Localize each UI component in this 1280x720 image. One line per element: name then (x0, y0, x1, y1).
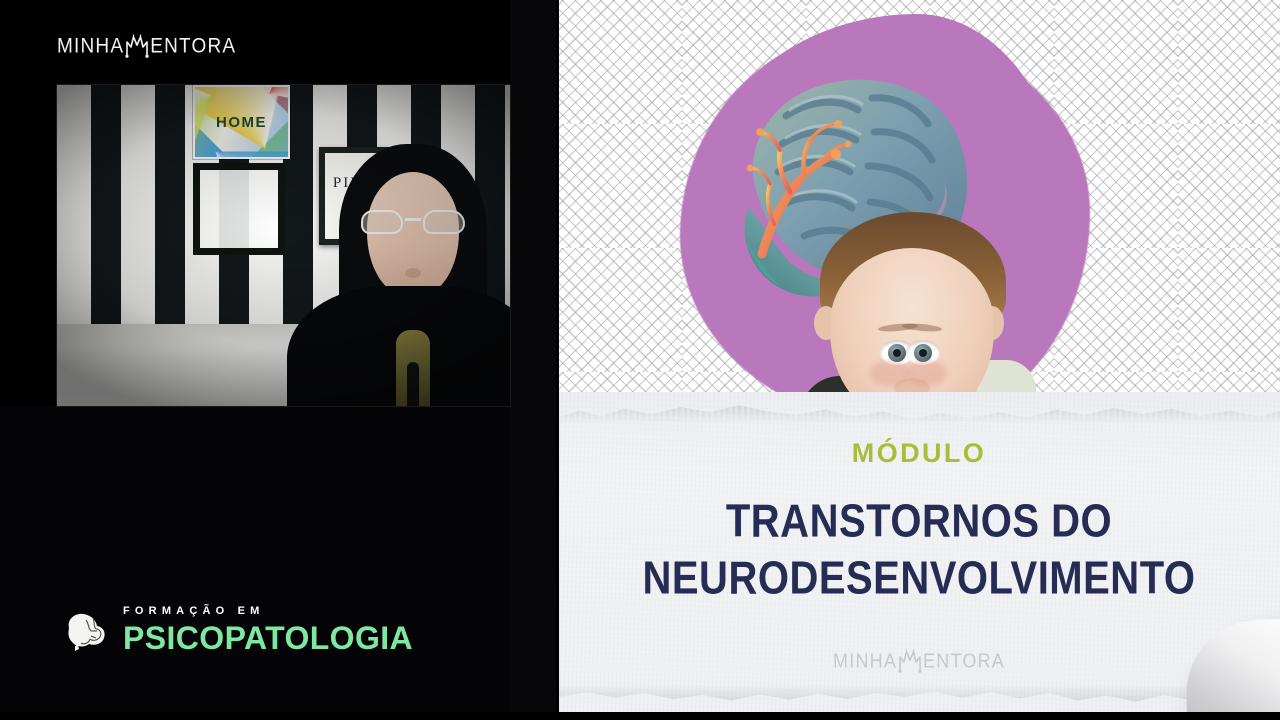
module-kicker-label: MÓDULO (582, 440, 1256, 467)
course-title: PSICOPATOLOGIA (123, 622, 413, 654)
brain-icon (62, 608, 110, 652)
brand-wordmark-top: MINHA ENTORA (57, 33, 236, 59)
baby-eyebrow-right (902, 322, 942, 332)
watermark-part1: MINHA (833, 651, 897, 671)
module-title-line-1: TRANSTORNOS DO (582, 489, 1256, 555)
video-vignette (57, 85, 510, 406)
baby-pupil-left (893, 349, 901, 357)
course-kicker: FORMAÇÃO EM (123, 606, 413, 617)
panel-lower-shade (0, 406, 510, 720)
module-title-line-2: NEURODESENVOLVIMENTO (582, 546, 1256, 612)
screen-root: MINHA ENTORA HOME PIRA (0, 0, 1280, 720)
watermark-part2: ENTORA (923, 651, 1005, 671)
slide-text-block: MÓDULO TRANSTORNOS DO NEURODESENVOLVIMEN… (558, 440, 1280, 603)
brand-wordmark-part1: MINHA (57, 35, 124, 56)
panel-divider (556, 0, 559, 720)
brand-wordmark-part2: ENTORA (150, 35, 236, 56)
slide-panel: MÓDULO TRANSTORNOS DO NEURODESENVOLVIMEN… (558, 0, 1280, 712)
baby-pupil-right (919, 349, 927, 357)
panel-edge-shade (510, 0, 558, 720)
page-curl-corner (1172, 608, 1280, 712)
course-logo-text: FORMAÇÃO EM PSICOPATOLOGIA (123, 606, 413, 654)
watermark-crown-m-icon (897, 648, 923, 674)
brand-crown-m-icon (124, 33, 150, 59)
course-logo: FORMAÇÃO EM PSICOPATOLOGIA (62, 606, 413, 654)
presenter-video-tile[interactable]: HOME PIRA (57, 85, 510, 406)
presenter-panel: MINHA ENTORA HOME PIRA (0, 0, 558, 720)
bottom-letterbox-bar (0, 712, 1280, 720)
